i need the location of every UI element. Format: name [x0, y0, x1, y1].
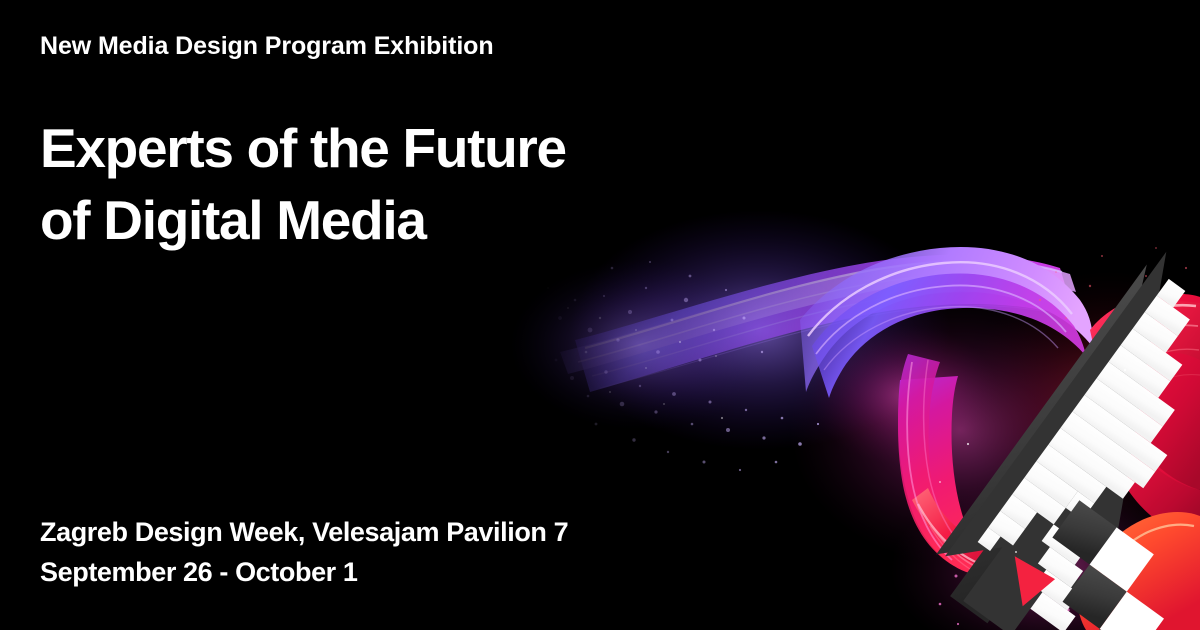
- dates-line: September 26 - October 1: [40, 552, 568, 592]
- poster-text-layer: New Media Design Program Exhibition Expe…: [0, 0, 1200, 630]
- poster-headline: Experts of the Future of Digital Media: [40, 112, 566, 256]
- venue-line: Zagreb Design Week, Velesajam Pavilion 7: [40, 512, 568, 552]
- poster-kicker: New Media Design Program Exhibition: [40, 31, 494, 61]
- headline-line-2: of Digital Media: [40, 184, 566, 256]
- event-poster: New Media Design Program Exhibition Expe…: [0, 0, 1200, 630]
- headline-line-1: Experts of the Future: [40, 112, 566, 184]
- poster-footer: Zagreb Design Week, Velesajam Pavilion 7…: [40, 512, 568, 592]
